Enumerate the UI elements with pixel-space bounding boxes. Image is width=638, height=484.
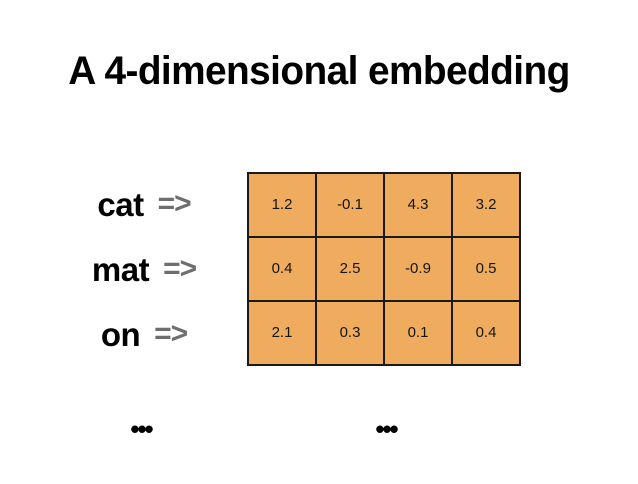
matrix-cell: 2.5 [316, 237, 384, 301]
matrix-cell: 0.4 [248, 237, 316, 301]
word-label: cat [97, 188, 143, 221]
table-row: 2.1 0.3 0.1 0.4 [248, 301, 520, 365]
matrix-cell: 0.5 [452, 237, 520, 301]
word-label: mat [92, 253, 149, 286]
matrix-cell: 4.3 [384, 173, 452, 237]
matrix-cell: 1.2 [248, 173, 316, 237]
word-row-cat: cat => [40, 172, 248, 236]
word-label: on [101, 318, 140, 351]
matrix-cell: 3.2 [452, 173, 520, 237]
matrix-cell: -0.1 [316, 173, 384, 237]
word-row-on: on => [40, 302, 248, 366]
table-row: 0.4 2.5 -0.9 0.5 [248, 237, 520, 301]
arrow-icon: => [154, 319, 187, 349]
page-title: A 4-dimensional embedding [10, 48, 629, 94]
matrix-cell: 0.1 [384, 301, 452, 365]
matrix-cell: -0.9 [384, 237, 452, 301]
matrix-cell: 2.1 [248, 301, 316, 365]
arrow-icon: => [158, 189, 191, 219]
word-label-column: cat => mat => on => [40, 172, 248, 366]
ellipsis-words: ••• [130, 416, 151, 442]
slide-canvas: A 4-dimensional embedding cat => mat => … [0, 0, 638, 484]
embedding-matrix: 1.2 -0.1 4.3 3.2 0.4 2.5 -0.9 0.5 2.1 0.… [247, 172, 521, 366]
matrix-cell: 0.3 [316, 301, 384, 365]
matrix-cell: 0.4 [452, 301, 520, 365]
table-row: 1.2 -0.1 4.3 3.2 [248, 173, 520, 237]
arrow-icon: => [163, 254, 196, 284]
ellipsis-matrix: ••• [375, 416, 396, 442]
word-row-mat: mat => [40, 237, 248, 301]
